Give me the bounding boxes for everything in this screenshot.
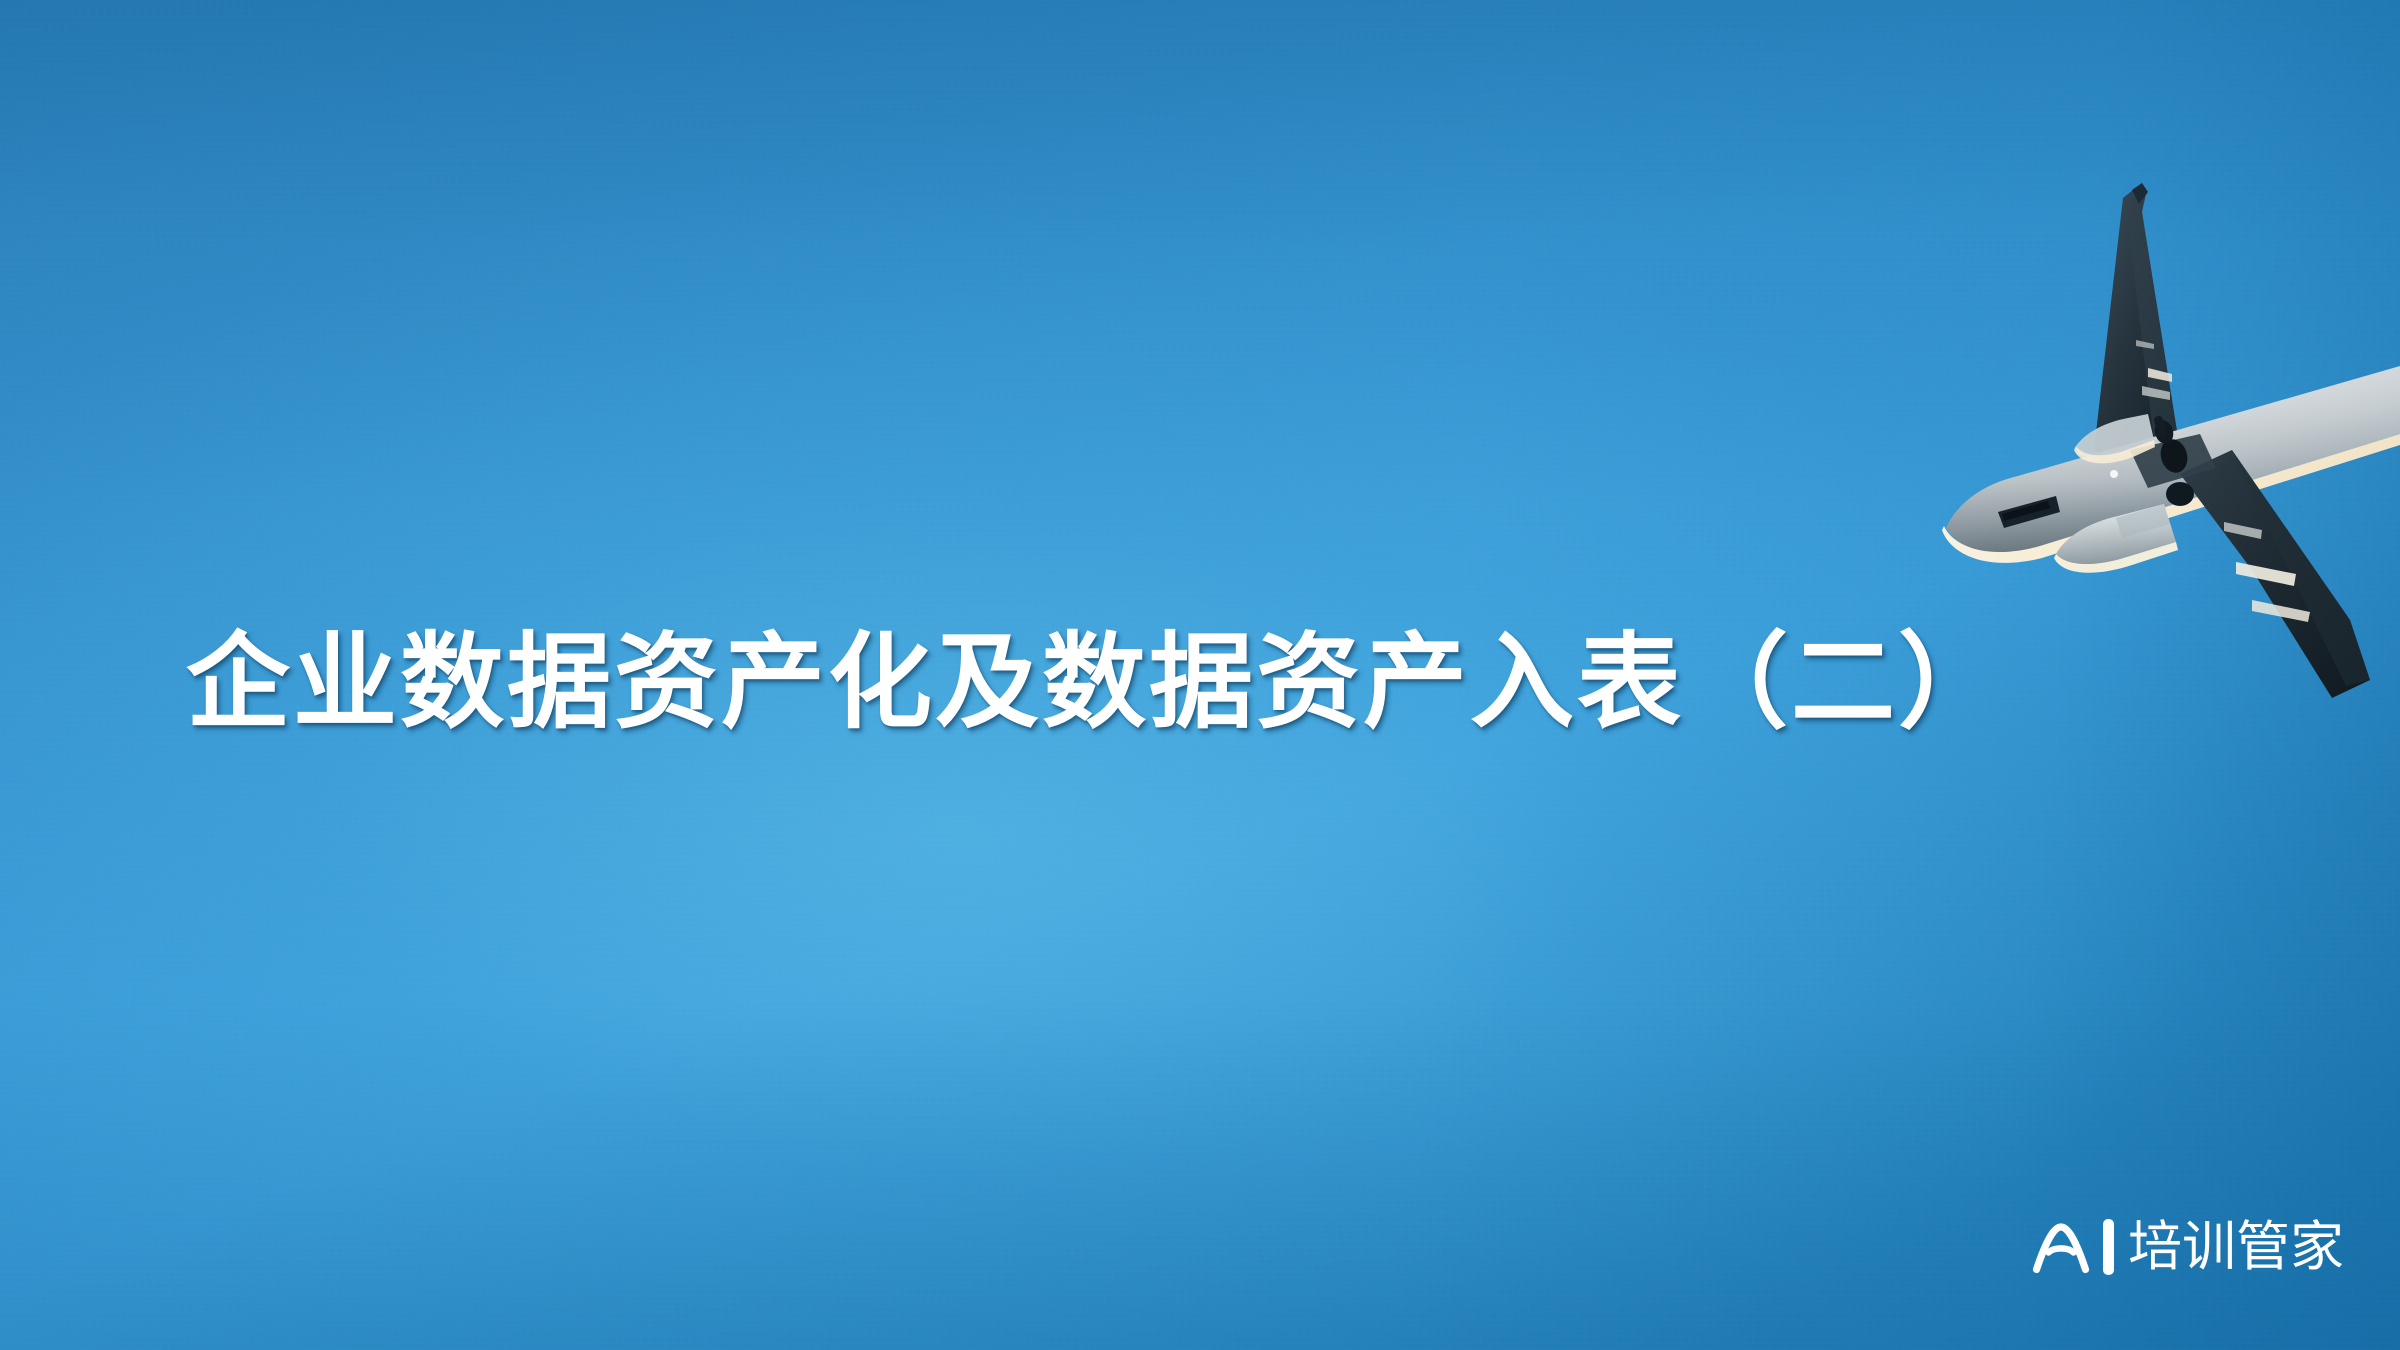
ai-logo-mark-icon bbox=[2030, 1217, 2092, 1277]
title-slide: 企业数据资产化及数据资产入表（二） 培训管家 bbox=[0, 0, 2400, 1350]
logo-divider-bar bbox=[2103, 1219, 2114, 1275]
brand-logo: 培训管家 bbox=[2030, 1212, 2344, 1282]
title-block: 企业数据资产化及数据资产入表（二） bbox=[186, 620, 2086, 747]
logo-text: 培训管家 bbox=[2128, 1220, 2344, 1274]
page-title: 企业数据资产化及数据资产入表（二） bbox=[186, 620, 2086, 747]
